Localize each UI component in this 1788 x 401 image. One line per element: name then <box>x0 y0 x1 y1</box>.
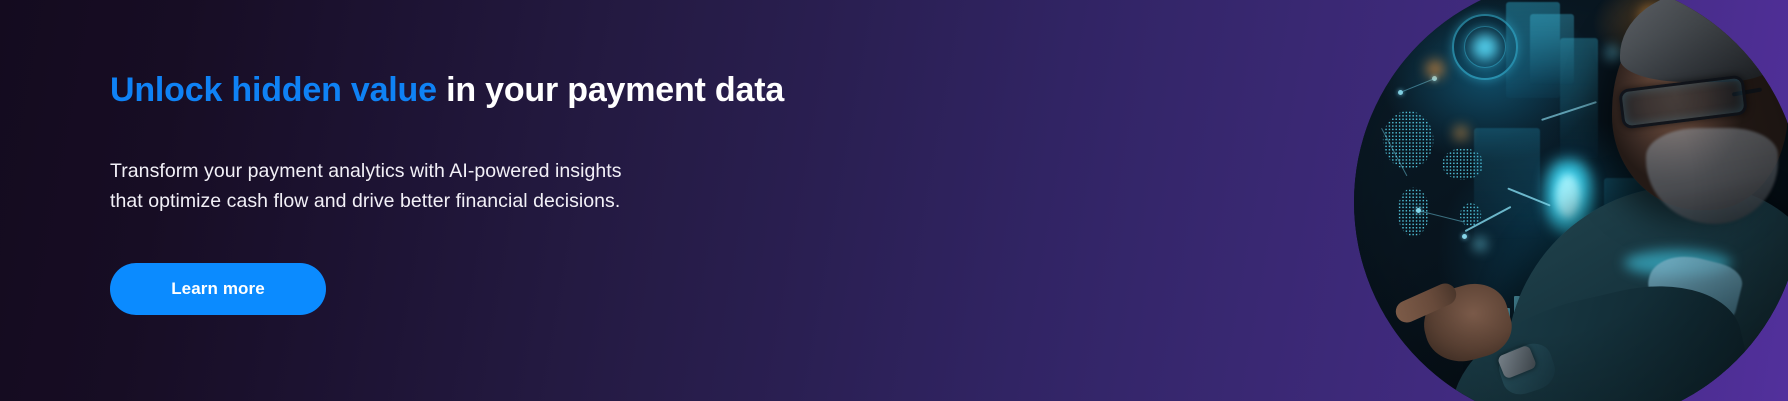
photo-vignette <box>1354 0 1788 401</box>
learn-more-button[interactable]: Learn more <box>110 263 326 315</box>
hero-image-photo <box>1354 0 1788 401</box>
headline-rest-text: in your payment data <box>437 71 784 109</box>
promo-banner: Unlock hidden value in your payment data… <box>0 0 1788 401</box>
headline-accent-text: Unlock hidden value <box>110 71 437 109</box>
page-title: Unlock hidden value in your payment data <box>110 68 784 112</box>
subcopy-line-1: Transform your payment analytics with AI… <box>110 156 830 186</box>
banner-content: Unlock hidden value in your payment data… <box>110 0 1070 401</box>
banner-subcopy: Transform your payment analytics with AI… <box>110 156 830 216</box>
hero-image <box>1354 0 1788 401</box>
subcopy-line-2: that optimize cash flow and drive better… <box>110 186 830 216</box>
